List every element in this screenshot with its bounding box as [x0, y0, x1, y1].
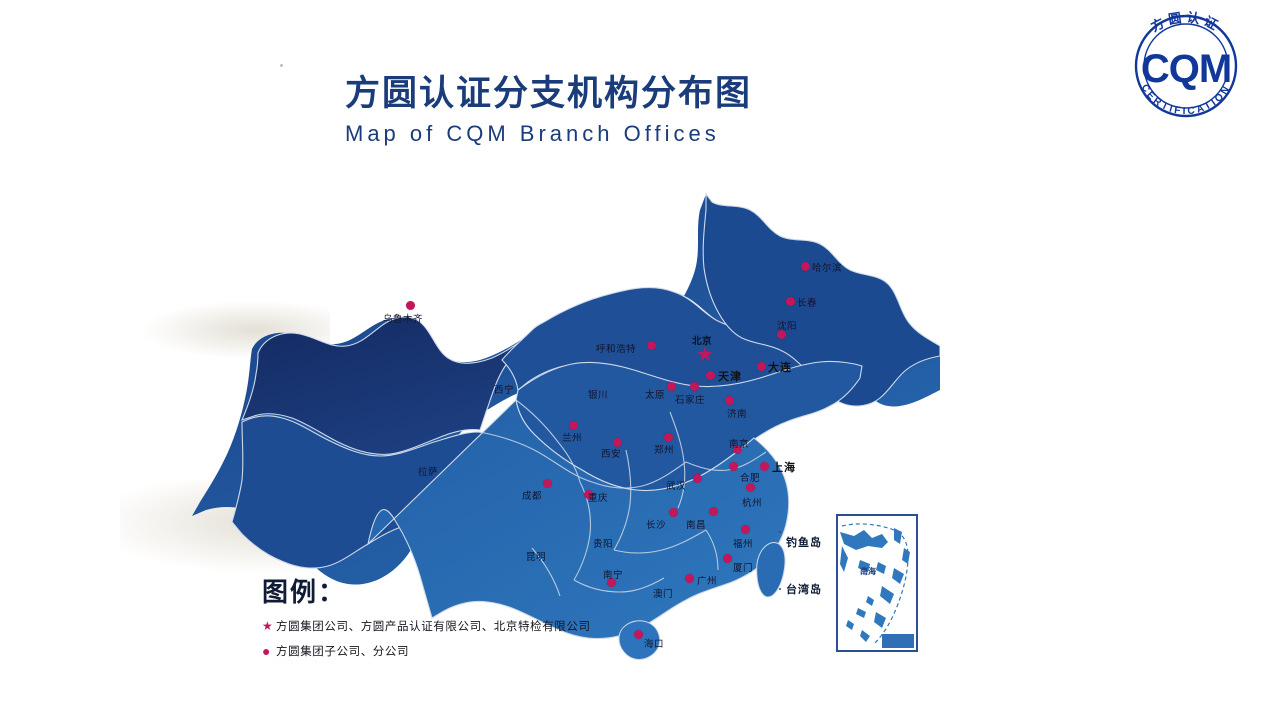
city-label-chengdu: 成都: [522, 488, 542, 502]
city-label-tianjin: 天津: [718, 368, 742, 384]
marker-tianjin[interactable]: [706, 371, 715, 380]
marker-shanghai[interactable]: [760, 462, 769, 471]
svg-text:CQM: CQM: [1141, 47, 1231, 91]
marker-hefei[interactable]: [729, 462, 738, 471]
city-label-shenyang: 沈阳: [777, 318, 797, 332]
cqm-logo: 方圆认证 CERTIFICATION CQM: [1110, 6, 1262, 118]
marker-lanzhou[interactable]: [569, 421, 578, 430]
city-label-hefei: 合肥: [740, 470, 760, 484]
city-label-nanchang: 南昌: [686, 517, 706, 531]
city-label-dalian: 大连: [768, 359, 792, 375]
title-english: Map of CQM Branch Offices: [345, 119, 905, 149]
city-label-xian: 西安: [601, 446, 621, 460]
marker-huhehaote[interactable]: [647, 341, 656, 350]
city-label-fuzhou: 福州: [733, 536, 753, 550]
marker-taiyuan[interactable]: [667, 382, 676, 391]
marker-wuhan[interactable]: [693, 474, 702, 483]
city-label-zhengzhou: 郑州: [654, 442, 674, 456]
city-label-huhehaote: 呼和浩特: [596, 341, 636, 355]
marker-hangzhou[interactable]: [746, 483, 755, 492]
city-label-xiamen: 厦门: [733, 560, 753, 574]
marker-nanchang[interactable]: [709, 507, 718, 516]
city-label-taiyuan: 太原: [645, 387, 665, 401]
city-label-haerbin: 哈尔滨: [812, 260, 842, 274]
diaoyu-island-dot: [779, 531, 781, 533]
marker-chengdu[interactable]: [543, 479, 552, 488]
island-label-diaoyudao: 钓鱼岛: [786, 534, 822, 550]
city-label-wuhan: 武汉: [666, 478, 686, 492]
legend-item-headquarters: ★ 方圆集团公司、方圆产品认证有限公司、北京特检有限公司: [262, 618, 682, 634]
title-chinese: 方圆认证分支机构分布图: [345, 74, 905, 114]
south-china-sea-inset: 南海: [836, 514, 918, 652]
island-label-taiwandao: 台湾岛: [786, 581, 822, 597]
marker-beijing-star[interactable]: ★: [696, 345, 714, 365]
legend-item-headquarters-text: 方圆集团公司、方圆产品认证有限公司、北京特检有限公司: [276, 618, 591, 634]
marker-dalian[interactable]: [757, 362, 766, 371]
city-label-yinchuan: 银川: [588, 387, 608, 401]
city-label-lanzhou: 兰州: [562, 430, 582, 444]
svg-text:方圆认证: 方圆认证: [1148, 9, 1223, 35]
marker-xiamen[interactable]: [723, 554, 732, 563]
slide-canvas: 方圆认证分支机构分布图 Map of CQM Branch Offices 方圆…: [0, 0, 1280, 720]
marker-guangzhou[interactable]: [685, 574, 694, 583]
city-label-shanghai: 上海: [772, 459, 796, 475]
city-label-lasa: 拉萨: [418, 464, 438, 478]
paper-speck: [280, 64, 283, 67]
city-label-chongqing: 重庆: [588, 490, 608, 504]
legend-title: 图例：: [262, 572, 682, 609]
city-label-xining: 西宁: [494, 382, 514, 396]
marker-fuzhou[interactable]: [741, 525, 750, 534]
dot-icon: ●: [262, 645, 276, 657]
marker-changsha[interactable]: [669, 508, 678, 517]
city-label-nanjing: 南京: [729, 436, 749, 450]
svg-text:南海: 南海: [860, 566, 876, 576]
legend-item-branch: ● 方圆集团子公司、分公司: [262, 643, 682, 659]
city-label-jinan: 济南: [727, 406, 747, 420]
marker-shijiazhuang[interactable]: [690, 382, 699, 391]
city-label-beijing: 北京: [692, 333, 712, 347]
marker-wulumuqi[interactable]: [406, 301, 415, 310]
marker-zhengzhou[interactable]: [664, 433, 673, 442]
city-label-changsha: 长沙: [646, 517, 666, 531]
marker-haerbin[interactable]: [801, 262, 810, 271]
star-icon: ★: [262, 620, 276, 632]
marker-jinan[interactable]: [725, 396, 734, 405]
legend: 图例： ★ 方圆集团公司、方圆产品认证有限公司、北京特检有限公司 ● 方圆集团子…: [262, 572, 682, 659]
city-label-hangzhou: 杭州: [742, 495, 762, 509]
city-label-kunming: 昆明: [526, 549, 546, 563]
city-label-guiyang: 贵阳: [593, 536, 613, 550]
taiwan-island-dot: [779, 588, 781, 590]
city-label-shijiazhuang: 石家庄: [675, 392, 705, 406]
city-label-changchun: 长春: [797, 295, 817, 309]
inset-scale-bar: [882, 634, 914, 648]
marker-changchun[interactable]: [786, 297, 795, 306]
city-label-wulumuqi: 乌鲁木齐: [383, 311, 423, 325]
city-label-guangzhou: 广州: [697, 573, 717, 587]
page-title: 方圆认证分支机构分布图 Map of CQM Branch Offices: [345, 74, 905, 149]
legend-item-branch-text: 方圆集团子公司、分公司: [276, 643, 409, 659]
